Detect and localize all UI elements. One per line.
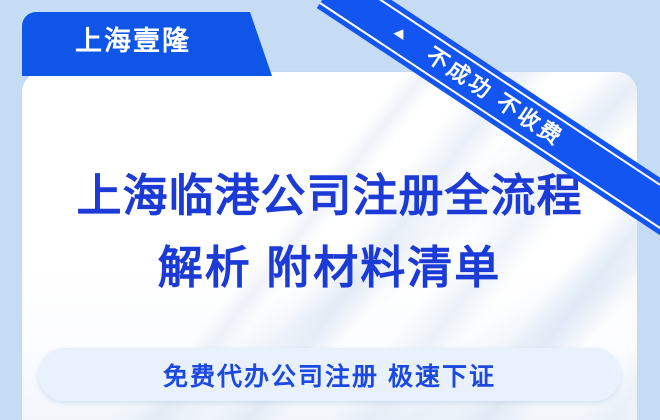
- headline-line-1: 上海临港公司注册全流程: [22, 160, 637, 232]
- cta-pill-button[interactable]: 免费代办公司注册 极速下证: [38, 348, 621, 401]
- headline-line-2: 解析 附材料清单: [22, 232, 637, 304]
- brand-tab: 上海壹隆: [22, 12, 272, 76]
- headline-block: 上海临港公司注册全流程 解析 附材料清单: [22, 160, 637, 304]
- brand-tab-label: 上海壹隆: [22, 25, 244, 57]
- poster-canvas: 上海临港公司注册全流程 解析 附材料清单 免费代办公司注册 极速下证 上海壹隆 …: [0, 0, 660, 420]
- triangle-up-icon: [393, 26, 408, 40]
- cta-pill-label: 免费代办公司注册 极速下证: [163, 357, 496, 393]
